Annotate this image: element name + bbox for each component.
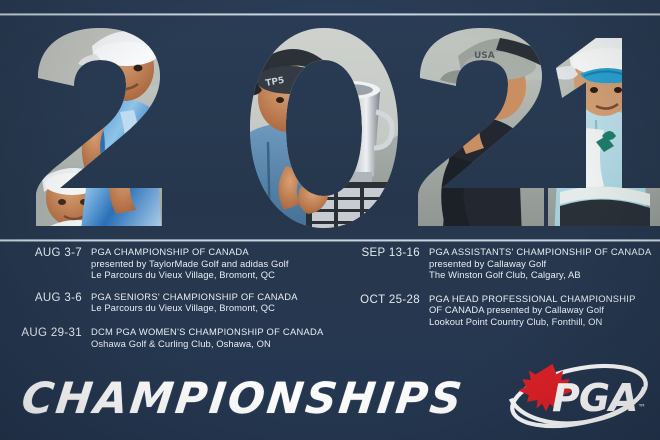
mid-divider-rule (0, 239, 660, 242)
event-title: DCM PGA WOMEN'S CHAMPIONSHIP OF CANADA (91, 326, 340, 338)
event-row[interactable]: AUG 29-31 DCM PGA WOMEN'S CHAMPIONSHIP O… (0, 326, 340, 349)
event-details: DCM PGA WOMEN'S CHAMPIONSHIP OF CANADA O… (91, 326, 340, 349)
event-date: AUG 3-7 (0, 246, 91, 260)
event-date: SEP 13-16 (332, 246, 429, 260)
schedule-column-left: AUG 3-7 PGA CHAMPIONSHIP OF CANADA prese… (0, 246, 340, 357)
event-presenter: OF CANADA presented by Callaway Golf (429, 304, 660, 316)
poster-canvas: TP5 (0, 0, 660, 440)
event-venue: Le Parcours du Vieux Village, Bromont, Q… (91, 302, 340, 314)
event-date: AUG 29-31 (0, 326, 91, 340)
event-row[interactable]: OCT 25-28 PGA HEAD PROFESSIONAL CHAMPION… (332, 293, 660, 328)
event-details: PGA HEAD PROFESSIONAL CHAMPIONSHIP OF CA… (429, 293, 660, 328)
event-venue: The Winston Golf Club, Calgary, AB (429, 269, 660, 281)
event-venue: Oshawa Golf & Curling Club, Oshawa, ON (91, 338, 340, 350)
event-title: PGA SENIORS' CHAMPIONSHIP OF CANADA (91, 291, 340, 303)
event-venue: Le Parcours du Vieux Village, Bromont, Q… (91, 269, 340, 281)
event-title: PGA CHAMPIONSHIP OF CANADA (91, 246, 340, 258)
event-row[interactable]: SEP 13-16 PGA ASSISTANTS' CHAMPIONSHIP O… (332, 246, 660, 281)
photo-mask-digit-2-second: USA (410, 16, 555, 238)
event-title: PGA HEAD PROFESSIONAL CHAMPIONSHIP (429, 293, 660, 305)
event-details: PGA ASSISTANTS' CHAMPIONSHIP OF CANADA p… (429, 246, 660, 281)
photo-mask-digit-0: TP5 (214, 16, 434, 238)
schedule-column-right: SEP 13-16 PGA ASSISTANTS' CHAMPIONSHIP O… (332, 246, 660, 336)
photo-mask-digit-1 (540, 16, 660, 238)
event-date: OCT 25-28 (332, 293, 429, 307)
event-row[interactable]: AUG 3-7 PGA CHAMPIONSHIP OF CANADA prese… (0, 246, 340, 281)
event-title: PGA ASSISTANTS' CHAMPIONSHIP OF CANADA (429, 246, 660, 258)
championships-wordmark: CHAMPIONSHIPS (19, 376, 466, 422)
event-details: PGA CHAMPIONSHIP OF CANADA presented by … (91, 246, 340, 281)
event-presenter: presented by TaylorMade Golf and adidas … (91, 258, 340, 270)
pga-wordmark-text: PGA (552, 376, 637, 420)
photo-mask-digit-2-first (20, 16, 180, 238)
hero-photo-collage-2021: TP5 (0, 16, 660, 238)
pga-logo[interactable]: PGA ™ (505, 360, 653, 432)
svg-text:USA: USA (474, 51, 495, 61)
event-details: PGA SENIORS' CHAMPIONSHIP OF CANADA Le P… (91, 291, 340, 314)
event-row[interactable]: AUG 3-6 PGA SENIORS' CHAMPIONSHIP OF CAN… (0, 291, 340, 314)
event-venue: Lookout Point Country Club, Fonthill, ON (429, 316, 660, 328)
championship-schedule: AUG 3-7 PGA CHAMPIONSHIP OF CANADA prese… (0, 246, 660, 366)
event-presenter: presented by Callaway Golf (429, 258, 660, 270)
trademark-symbol: ™ (638, 403, 646, 412)
event-date: AUG 3-6 (0, 291, 91, 305)
